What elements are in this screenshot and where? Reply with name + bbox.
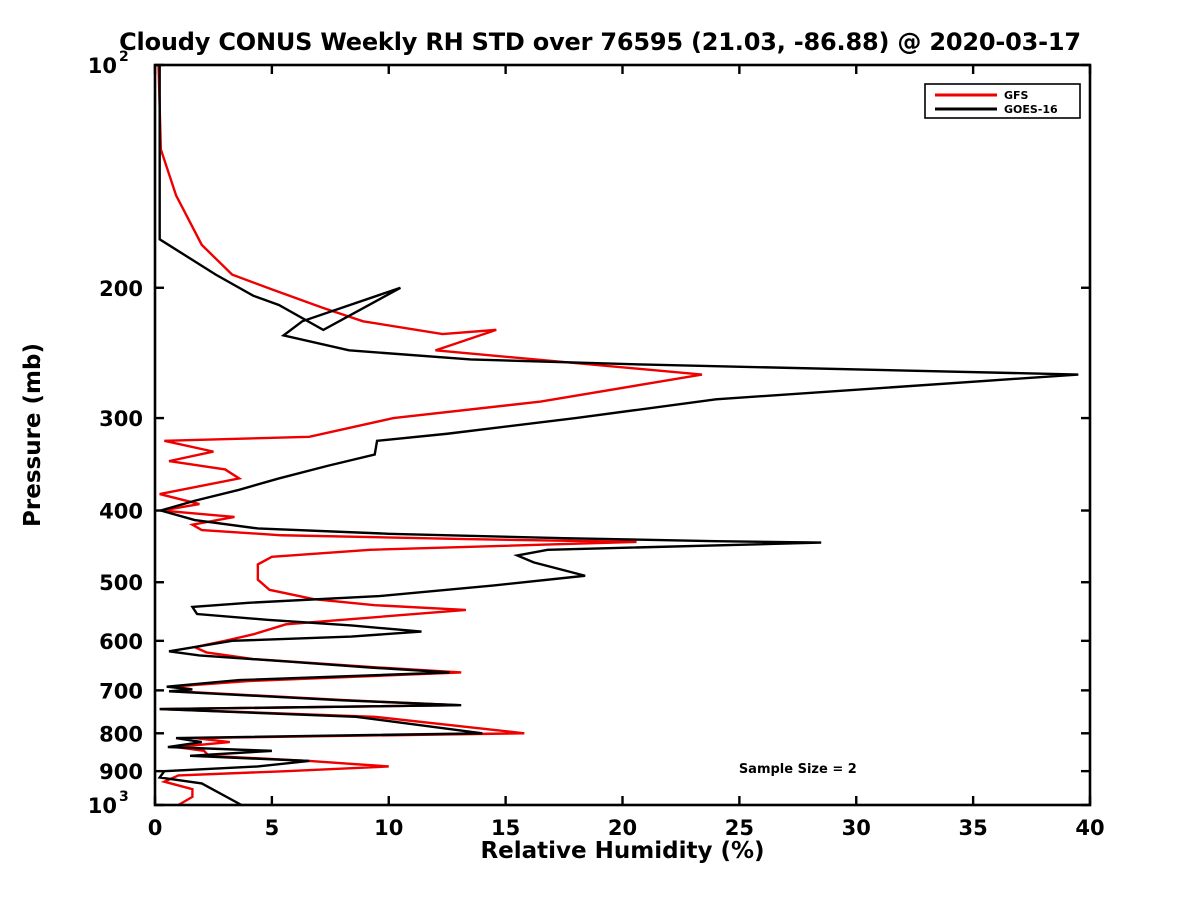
legend-label-gfs: GFS (1004, 89, 1029, 102)
x-tick-label: 25 (725, 816, 754, 840)
y-tick-label: 200 (99, 277, 143, 301)
series-line-goes-16 (160, 65, 1079, 805)
y-tick-label-exponent: 3 (119, 789, 129, 805)
y-tick-label: 900 (99, 760, 143, 784)
series-layer (159, 65, 1079, 805)
y-axis-title: Pressure (mb) (20, 343, 46, 527)
annotation-layer: Sample Size = 2 (739, 762, 857, 777)
y-tick-label: 500 (99, 571, 143, 595)
legend-label-goes-16: GOES-16 (1004, 103, 1058, 116)
y-tick-label: 700 (99, 679, 143, 703)
chart-plot-area: Relative Humidity (%)Pressure (mb) 05101… (0, 0, 1200, 900)
figure-canvas: Cloudy CONUS Weekly RH STD over 76595 (2… (0, 0, 1200, 900)
y-tick-label: 10 (88, 54, 117, 78)
axes-frame (155, 65, 1090, 805)
x-tick-label: 5 (265, 816, 280, 840)
tick-layer: 0510152025303540102200300400500600700800… (88, 49, 1105, 840)
x-tick-label: 0 (148, 816, 163, 840)
x-axis-title: Relative Humidity (%) (480, 838, 764, 864)
y-tick-label-exponent: 2 (119, 49, 129, 65)
y-tick-label: 300 (99, 407, 143, 431)
x-tick-label: 30 (842, 816, 871, 840)
x-tick-label: 35 (959, 816, 988, 840)
y-tick-label: 400 (99, 500, 143, 524)
sample-size-annotation: Sample Size = 2 (739, 762, 857, 777)
x-tick-label: 20 (608, 816, 637, 840)
chart-legend[interactable]: GFSGOES-16 (925, 84, 1080, 118)
y-tick-label: 600 (99, 630, 143, 654)
y-tick-label: 10 (88, 794, 117, 818)
x-tick-label: 40 (1075, 816, 1104, 840)
x-tick-label: 15 (491, 816, 520, 840)
x-tick-label: 10 (374, 816, 403, 840)
y-tick-label: 800 (99, 722, 143, 746)
